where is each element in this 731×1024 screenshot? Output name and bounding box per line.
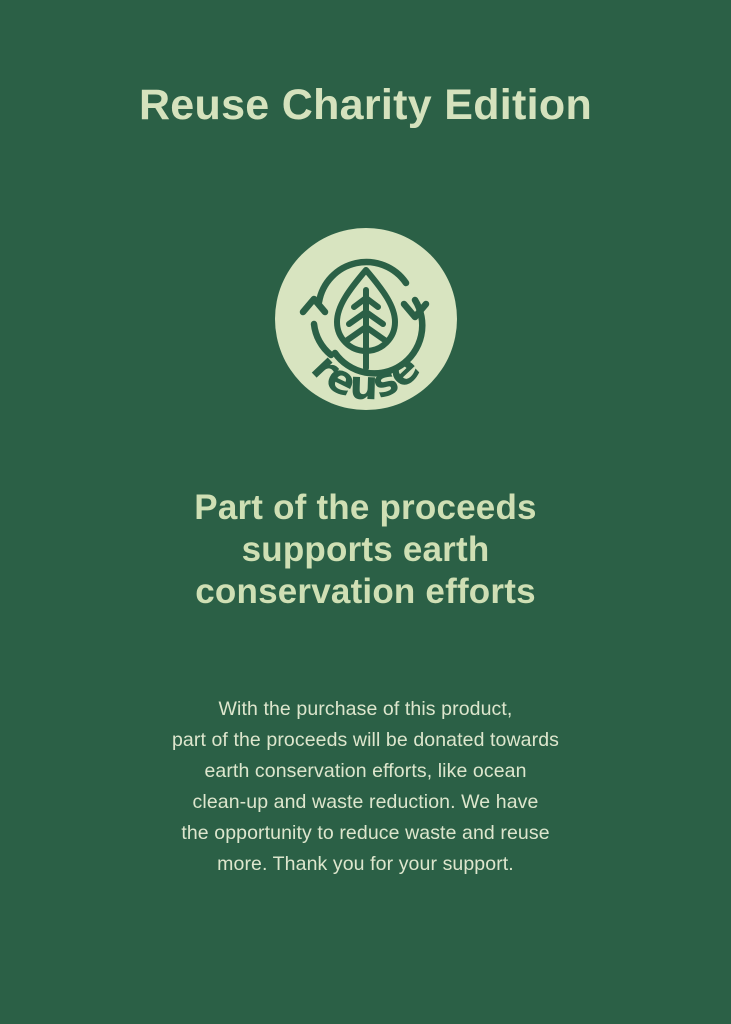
headline-line-2: supports earth — [0, 529, 731, 571]
charity-poster: Reuse Charity Edition — [0, 0, 731, 1024]
body-line-2: part of the proceeds will be donated tow… — [0, 725, 731, 756]
reuse-badge: reuse — [275, 228, 457, 410]
body-line-5: the opportunity to reduce waste and reus… — [0, 818, 731, 849]
body-line-3: earth conservation efforts, like ocean — [0, 756, 731, 787]
headline-line-3: conservation efforts — [0, 571, 731, 613]
headline-line-1: Part of the proceeds — [0, 487, 731, 529]
leaf-recycle-icon: reuse — [275, 228, 457, 410]
body-line-4: clean-up and waste reduction. We have — [0, 787, 731, 818]
page-title: Reuse Charity Edition — [0, 78, 731, 132]
body-line-1: With the purchase of this product, — [0, 694, 731, 725]
headline: Part of the proceeds supports earth cons… — [0, 487, 731, 613]
body-paragraph: With the purchase of this product, part … — [0, 694, 731, 880]
body-line-6: more. Thank you for your support. — [0, 849, 731, 880]
